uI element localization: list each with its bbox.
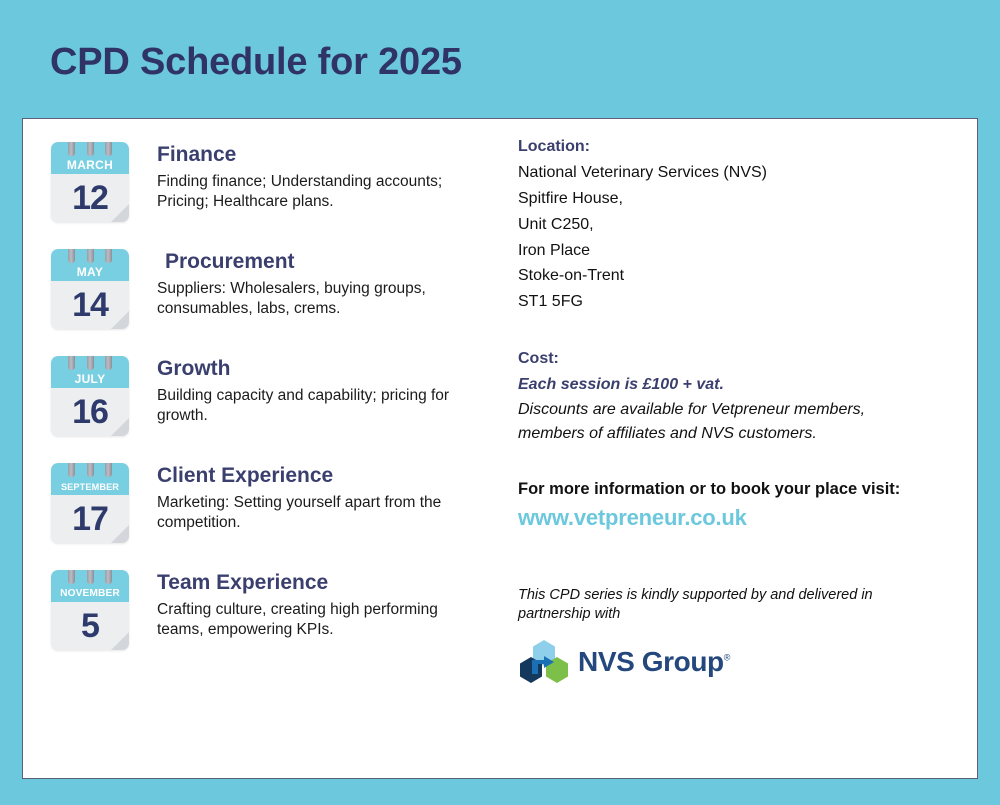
calendar-icon: NOVEMBER 5: [51, 561, 141, 650]
cost-block: Cost: Each session is £100 + vat. Discou…: [518, 347, 963, 447]
session-title: Client Experience: [157, 464, 457, 488]
nvs-group-logo: NVS Group®: [518, 639, 963, 685]
calendar-icon: MAY 14: [51, 240, 141, 329]
support-note-line: This CPD series is kindly supported by a…: [518, 586, 908, 606]
session-title: Growth: [157, 357, 457, 381]
session-text: Procurement Suppliers: Wholesalers, buyi…: [157, 240, 457, 319]
session-description: Suppliers: Wholesalers, buying groups, c…: [157, 279, 457, 319]
calendar-rings-icon: [51, 249, 129, 271]
sessions-column: MARCH 12 Finance Finding finance; Unders…: [51, 133, 521, 668]
nvs-group-name: NVS Group: [578, 646, 724, 677]
calendar-rings-icon: [51, 570, 129, 592]
spacer: [518, 447, 963, 477]
calendar-day-label: 16: [72, 395, 108, 429]
session-text: Finance Finding finance; Understanding a…: [157, 133, 457, 212]
booking-website-link[interactable]: www.vetpreneur.co.uk: [518, 502, 963, 534]
session-title: Finance: [157, 143, 457, 167]
location-line: Spitfire House,: [518, 186, 963, 212]
calendar-day-label: 14: [72, 288, 108, 322]
session-description: Finding finance; Understanding accounts;…: [157, 172, 457, 212]
session-row: MAY 14 Procurement Suppliers: Wholesaler…: [51, 240, 521, 329]
booking-block: For more information or to book your pla…: [518, 477, 963, 534]
nvs-group-wordmark: NVS Group®: [578, 648, 730, 676]
cost-price-line: Each session is £100 + vat.: [518, 372, 963, 398]
calendar-icon: SEPTEMBER 17: [51, 454, 141, 543]
cost-discount-line: Discounts are available for Vetpreneur m…: [518, 398, 963, 423]
session-text: Growth Building capacity and capability;…: [157, 347, 457, 426]
session-title: Procurement: [165, 250, 457, 274]
session-description: Crafting culture, creating high performi…: [157, 600, 457, 640]
support-block: This CPD series is kindly supported by a…: [518, 586, 963, 685]
registered-trademark-icon: ®: [724, 653, 730, 663]
session-description: Building capacity and capability; pricin…: [157, 386, 457, 426]
details-column: Location: National Veterinary Services (…: [518, 135, 963, 685]
location-block: Location: National Veterinary Services (…: [518, 135, 963, 315]
location-line: National Veterinary Services (NVS): [518, 160, 963, 186]
location-line: Unit C250,: [518, 212, 963, 238]
location-line: ST1 5FG: [518, 289, 963, 315]
calendar-day-label: 5: [81, 609, 99, 643]
location-line: Iron Place: [518, 238, 963, 264]
spacer: [518, 534, 963, 586]
session-title: Team Experience: [157, 571, 457, 595]
session-description: Marketing: Setting yourself apart from t…: [157, 493, 457, 533]
content-card: MARCH 12 Finance Finding finance; Unders…: [22, 118, 978, 779]
session-text: Client Experience Marketing: Setting you…: [157, 454, 457, 533]
calendar-day-label: 17: [72, 502, 108, 536]
session-row: MARCH 12 Finance Finding finance; Unders…: [51, 133, 521, 222]
calendar-icon: MARCH 12: [51, 133, 141, 222]
session-text: Team Experience Crafting culture, creati…: [157, 561, 457, 640]
calendar-icon: JULY 16: [51, 347, 141, 436]
session-row: SEPTEMBER 17 Client Experience Marketing…: [51, 454, 521, 543]
support-note-line: partnership with: [518, 605, 908, 625]
location-heading: Location:: [518, 135, 963, 160]
spacer: [518, 315, 963, 347]
cost-discount-line: members of affiliates and NVS customers.: [518, 422, 963, 447]
session-row: NOVEMBER 5 Team Experience Crafting cult…: [51, 561, 521, 650]
cost-heading: Cost:: [518, 347, 963, 372]
calendar-day-label: 12: [72, 181, 108, 215]
nvs-hexagon-icon: [518, 639, 570, 685]
calendar-rings-icon: [51, 356, 129, 378]
page-title: CPD Schedule for 2025: [50, 42, 462, 84]
session-row: JULY 16 Growth Building capacity and cap…: [51, 347, 521, 436]
calendar-rings-icon: [51, 463, 129, 485]
calendar-rings-icon: [51, 142, 129, 164]
location-line: Stoke-on-Trent: [518, 263, 963, 289]
booking-heading: For more information or to book your pla…: [518, 477, 963, 502]
